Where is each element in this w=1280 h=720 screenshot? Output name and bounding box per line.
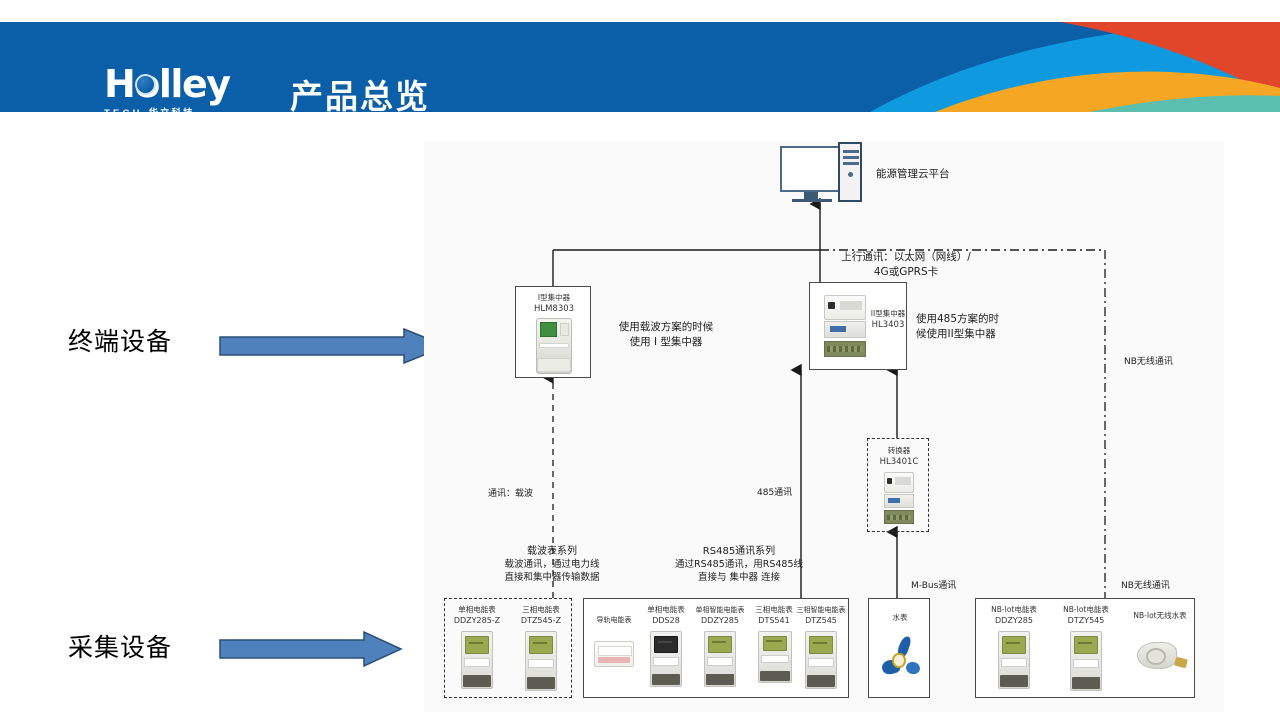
holley-logo: Holley TECH 华立科技 xyxy=(104,65,264,112)
converter-device-image xyxy=(884,472,914,524)
concentrator-2-box: II型集中器 HL3403 xyxy=(809,282,907,370)
carrier-device-0-model: DDZY285-Z xyxy=(447,616,507,626)
mbus-device-0-name: 水表 xyxy=(869,613,931,623)
rs485-device-0-image xyxy=(594,641,634,667)
rs485-device-1-model: DDS28 xyxy=(640,616,692,626)
rs485-group-desc-line2: 直接与 集中器 连接 xyxy=(614,571,864,584)
rs485-device-0-name: 导轨电能表 xyxy=(586,615,642,625)
cloud-platform-icon xyxy=(780,142,864,204)
rs485-device-4-name: 三相智能电能表 xyxy=(792,605,850,615)
converter-name: 转换器 xyxy=(868,446,930,456)
converter-model: HL3401C xyxy=(868,457,930,467)
mbus-group-box: 水表 xyxy=(868,598,930,698)
arrow-terminal-devices xyxy=(218,327,448,365)
monitor-icon xyxy=(780,146,842,192)
converter-box: 转换器 HL3401C xyxy=(867,438,929,532)
rs485-group-title: RS485通讯系列 xyxy=(614,545,864,558)
concentrator-2-note-line1: 使用485方案的时 xyxy=(916,312,1040,327)
concentrator-1-note-line1: 使用载波方案的时候 xyxy=(602,320,730,335)
concentrator-2-note-line2: 候使用II型集中器 xyxy=(916,327,1040,342)
concentrator-2-name: II型集中器 xyxy=(868,309,908,319)
cloud-platform-label: 能源管理云平台 xyxy=(876,167,950,182)
concentrator-1-note-line2: 使用 I 型集中器 xyxy=(602,335,730,350)
logo-subtitle-cn: 华立科技 xyxy=(149,108,195,112)
page-title: 产品总览 xyxy=(290,70,430,112)
section-label-terminal: 终端设备 xyxy=(68,322,172,358)
monitor-stand xyxy=(804,192,818,199)
rs485-device-4-model: DTZ545 xyxy=(792,616,850,626)
link-label-carrier: 通讯：载波 xyxy=(488,486,533,499)
nb-group-box: NB-Iot电能表 DDZY285 NB-Iot电能表 DTZY545 NB-I… xyxy=(975,598,1195,698)
concentrator-2-model: HL3403 xyxy=(868,320,908,330)
concentrator-2-note: 使用485方案的时 候使用II型集中器 xyxy=(916,312,1040,342)
rs485-device-4-image xyxy=(805,631,837,689)
rs485-device-2-image xyxy=(704,631,736,687)
uplink-label: 上行通讯：以太网（网线）/ 4G或GPRS卡 xyxy=(826,250,986,280)
nb-device-1-model: DTZY545 xyxy=(1052,616,1120,626)
water-meter-icon xyxy=(881,637,921,683)
carrier-device-0-image xyxy=(461,631,493,689)
link-label-nb-right: NB无线通讯 xyxy=(1124,354,1173,367)
rs485-group-heading: RS485通讯系列 通过RS485通讯，用RS485线 直接与 集中器 连接 xyxy=(614,545,864,584)
server-tower-icon xyxy=(838,142,862,202)
rs485-group-desc-line1: 通过RS485通讯，用RS485线 xyxy=(614,558,864,571)
carrier-device-0-name: 单相电能表 xyxy=(447,605,507,615)
rs485-device-2-name: 单相智能电能表 xyxy=(690,605,750,615)
concentrator-2-device-image xyxy=(824,295,866,357)
rs485-device-2-model: DDZY285 xyxy=(690,616,750,626)
nb-device-0-model: DDZY285 xyxy=(980,616,1048,626)
nb-device-0-image xyxy=(998,631,1030,689)
logo-wordmark: Holley xyxy=(104,65,264,103)
arrow-collection-devices xyxy=(218,630,403,668)
concentrator-1-model: HLM8303 xyxy=(516,304,592,314)
nb-device-1-name: NB-Iot电能表 xyxy=(1052,605,1120,615)
link-label-rs485: 485通讯 xyxy=(757,485,792,498)
link-label-nb-bottom: NB无线通讯 xyxy=(1121,578,1170,591)
rs485-group-box: 导轨电能表 单相电能表 DDS28 单相智能电能表 DDZY285 三相电能表 … xyxy=(583,598,849,698)
concentrator-1-box: I型集中器 HLM8303 xyxy=(515,286,591,378)
logo-o-ring-icon xyxy=(135,74,156,95)
page-header: Holley TECH 华立科技 产品总览 xyxy=(0,22,1280,112)
architecture-diagram: 能源管理云平台 上行通讯：以太网（网线）/ 4G或GPRS卡 I型集中器 HLM… xyxy=(424,142,1224,712)
uplink-line1: 上行通讯：以太网（网线）/ xyxy=(826,250,986,265)
concentrator-1-name: I型集中器 xyxy=(516,293,592,303)
carrier-device-1-name: 三相电能表 xyxy=(511,605,571,615)
carrier-group-box: 单相电能表 DDZY285-Z 三相电能表 DTZ545-Z xyxy=(444,598,572,698)
logo-subtitle: TECH 华立科技 xyxy=(104,105,264,112)
nb-water-meter-icon xyxy=(1134,635,1188,679)
logo-subtitle-en: TECH xyxy=(104,108,143,112)
header-swoosh-graphic xyxy=(760,22,1280,112)
rs485-device-1-image xyxy=(650,631,682,687)
concentrator-1-device-image xyxy=(536,318,572,374)
logo-wordmark-text: Holley xyxy=(104,62,230,106)
nb-device-1-image xyxy=(1070,631,1102,691)
section-label-collection: 采集设备 xyxy=(68,628,172,664)
uplink-line2: 4G或GPRS卡 xyxy=(826,265,986,280)
monitor-foot xyxy=(792,199,832,202)
concentrator-1-note: 使用载波方案的时候 使用 I 型集中器 xyxy=(602,320,730,350)
nb-device-0-name: NB-Iot电能表 xyxy=(980,605,1048,615)
carrier-device-1-model: DTZ545-Z xyxy=(511,616,571,626)
link-label-mbus: M-Bus通讯 xyxy=(911,578,956,591)
carrier-device-1-image xyxy=(525,631,557,691)
rs485-device-1-name: 单相电能表 xyxy=(640,605,692,615)
rs485-device-3-image xyxy=(758,631,792,683)
nb-device-2-name: NB-Iot无线水表 xyxy=(1126,611,1194,621)
